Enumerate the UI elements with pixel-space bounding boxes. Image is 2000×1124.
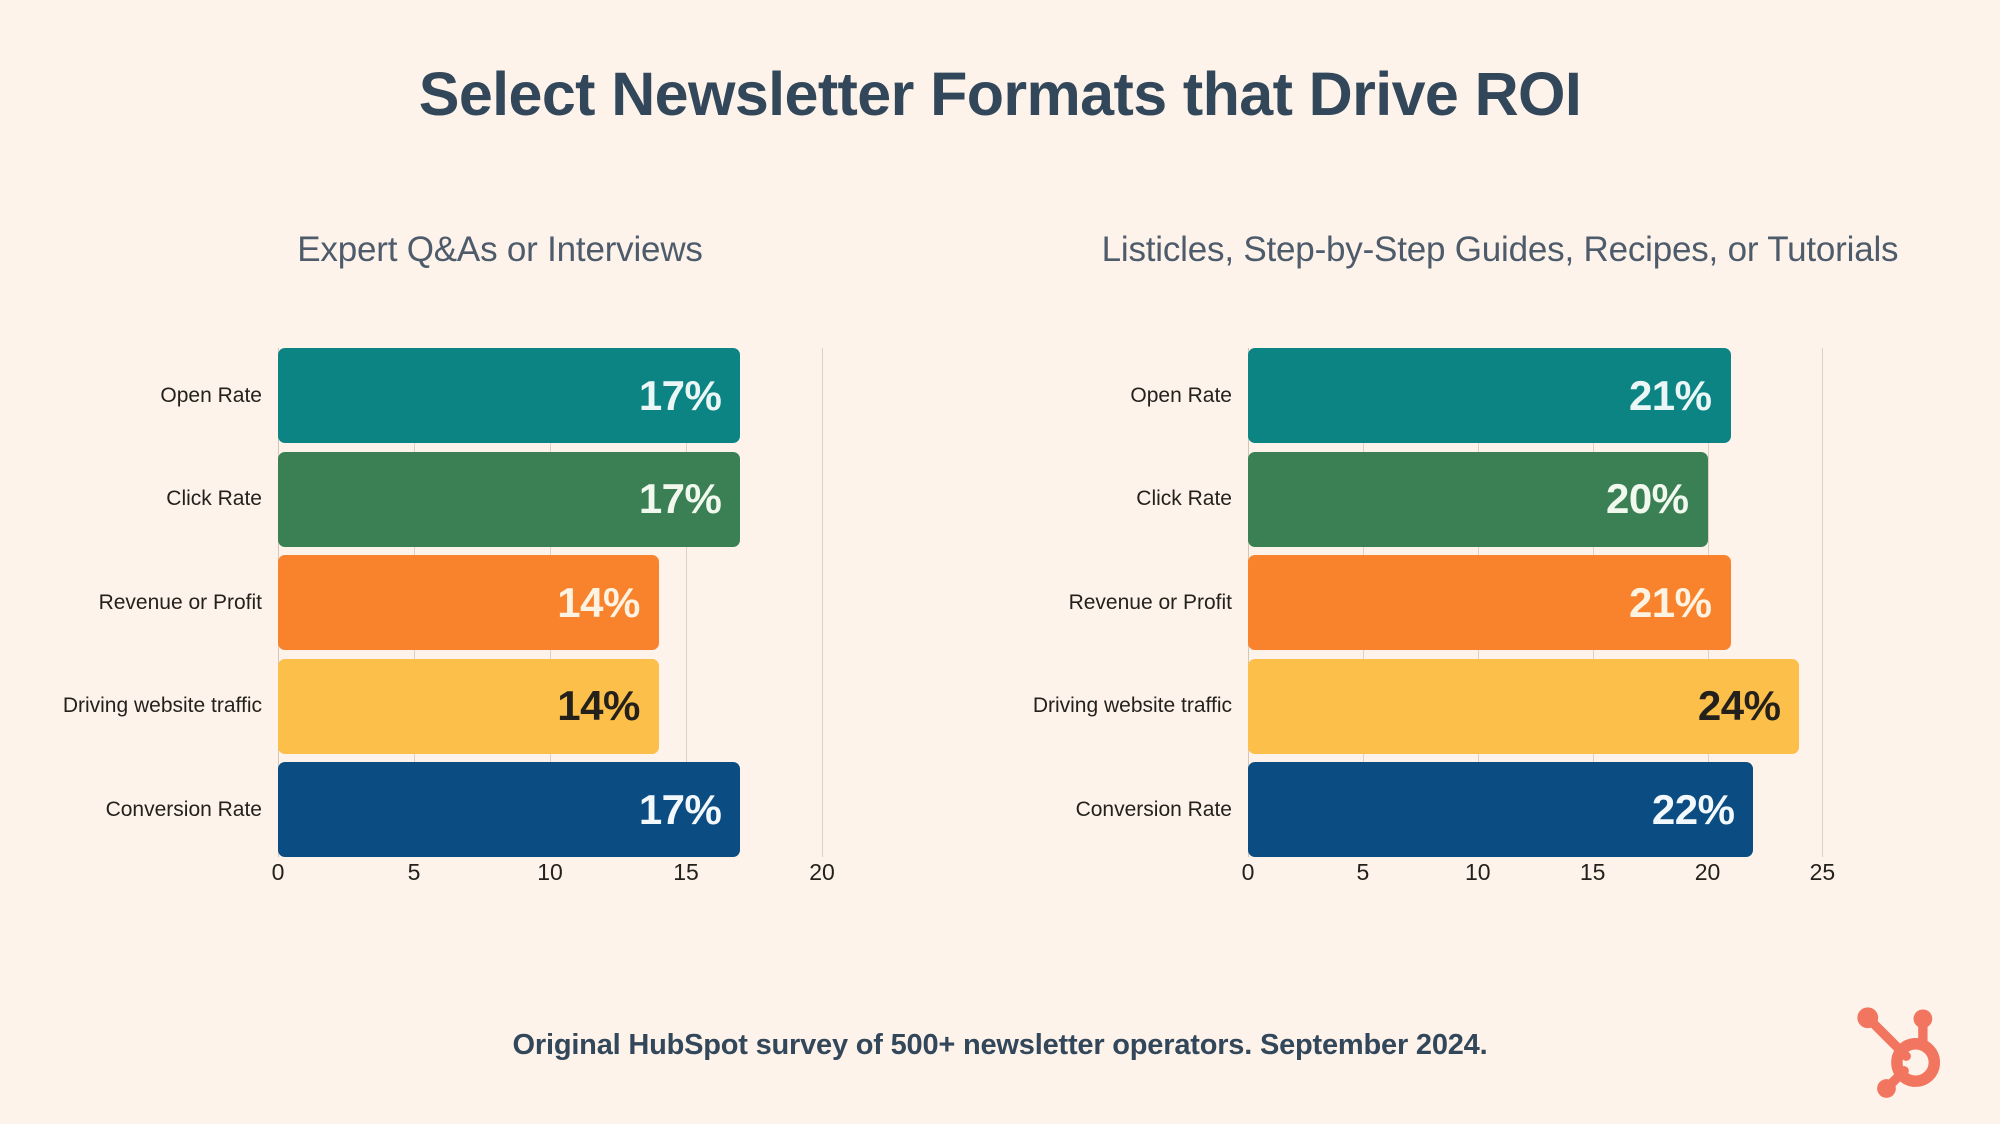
bar-click-rate[interactable]: 17% (278, 452, 740, 547)
x-tick-label: 0 (272, 859, 285, 886)
bar-open-rate[interactable]: 21% (1248, 348, 1731, 443)
bar-click-rate[interactable]: 20% (1248, 452, 1708, 547)
bar-value-label: 14% (557, 685, 659, 727)
plot-area-left: Open Rate17%Click Rate17%Revenue or Prof… (278, 348, 822, 857)
x-tick-label: 10 (537, 859, 563, 886)
bar-value-label: 20% (1606, 478, 1708, 520)
bar-driving-website-traffic[interactable]: 14% (278, 659, 659, 754)
infographic-canvas: Select Newsletter Formats that Drive ROI… (0, 0, 2000, 1124)
bar-value-label: 17% (639, 478, 741, 520)
bar-conversion-rate[interactable]: 22% (1248, 762, 1753, 857)
x-tick-label: 15 (1580, 859, 1606, 886)
source-note: Original HubSpot survey of 500+ newslett… (0, 1029, 2000, 1062)
x-tick-label: 20 (809, 859, 835, 886)
category-label: Open Rate (160, 348, 278, 443)
chart-title-right: Listicles, Step-by-Step Guides, Recipes,… (1000, 230, 2000, 270)
bar-row: Open Rate21% (1248, 348, 1850, 443)
bar-value-label: 21% (1629, 375, 1731, 417)
category-label: Revenue or Profit (99, 555, 278, 650)
bar-series-right: Open Rate21%Click Rate20%Revenue or Prof… (1248, 348, 1850, 857)
bar-row: Driving website traffic14% (278, 659, 822, 754)
plot-area-right: Open Rate21%Click Rate20%Revenue or Prof… (1248, 348, 1850, 857)
chart-panel-listicles: Listicles, Step-by-Step Guides, Recipes,… (1000, 230, 2000, 930)
category-label: Conversion Rate (1076, 762, 1248, 857)
category-label: Driving website traffic (63, 659, 278, 754)
x-tick-label: 10 (1465, 859, 1491, 886)
plot-left: Open Rate17%Click Rate17%Revenue or Prof… (278, 348, 822, 893)
bar-row: Click Rate17% (278, 452, 822, 547)
x-tick-label: 25 (1810, 859, 1836, 886)
bar-row: Conversion Rate22% (1248, 762, 1850, 857)
bar-value-label: 17% (639, 375, 741, 417)
x-axis-left: 05101520 (278, 857, 822, 893)
category-label: Revenue or Profit (1069, 555, 1248, 650)
bar-row: Revenue or Profit21% (1248, 555, 1850, 650)
bar-revenue-or-profit[interactable]: 14% (278, 555, 659, 650)
bar-value-label: 21% (1629, 582, 1731, 624)
x-tick-label: 5 (1356, 859, 1369, 886)
category-label: Driving website traffic (1033, 659, 1248, 754)
bar-value-label: 24% (1698, 685, 1800, 727)
bar-series-left: Open Rate17%Click Rate17%Revenue or Prof… (278, 348, 822, 857)
gridline-20 (822, 348, 823, 857)
bar-value-label: 17% (639, 789, 741, 831)
hubspot-sprocket-logo (1848, 998, 1952, 1102)
bar-driving-website-traffic[interactable]: 24% (1248, 659, 1799, 754)
page-title: Select Newsletter Formats that Drive ROI (0, 62, 2000, 126)
category-label: Click Rate (166, 452, 278, 547)
bar-row: Open Rate17% (278, 348, 822, 443)
x-tick-label: 15 (673, 859, 699, 886)
bar-row: Driving website traffic24% (1248, 659, 1850, 754)
x-tick-label: 0 (1242, 859, 1255, 886)
bar-open-rate[interactable]: 17% (278, 348, 740, 443)
chart-title-left: Expert Q&As or Interviews (0, 230, 1000, 270)
bar-value-label: 22% (1652, 789, 1754, 831)
chart-panel-expert-qa: Expert Q&As or Interviews Open Rate17%Cl… (0, 230, 1000, 930)
bar-row: Revenue or Profit14% (278, 555, 822, 650)
category-label: Open Rate (1130, 348, 1248, 443)
category-label: Conversion Rate (106, 762, 278, 857)
x-tick-label: 20 (1695, 859, 1721, 886)
x-axis-right: 0510152025 (1248, 857, 1850, 893)
bar-row: Conversion Rate17% (278, 762, 822, 857)
category-label: Click Rate (1136, 452, 1248, 547)
bar-revenue-or-profit[interactable]: 21% (1248, 555, 1731, 650)
plot-right: Open Rate21%Click Rate20%Revenue or Prof… (1248, 348, 1850, 893)
charts-container: Expert Q&As or Interviews Open Rate17%Cl… (0, 230, 2000, 930)
bar-row: Click Rate20% (1248, 452, 1850, 547)
x-tick-label: 5 (408, 859, 421, 886)
bar-value-label: 14% (557, 582, 659, 624)
bar-conversion-rate[interactable]: 17% (278, 762, 740, 857)
